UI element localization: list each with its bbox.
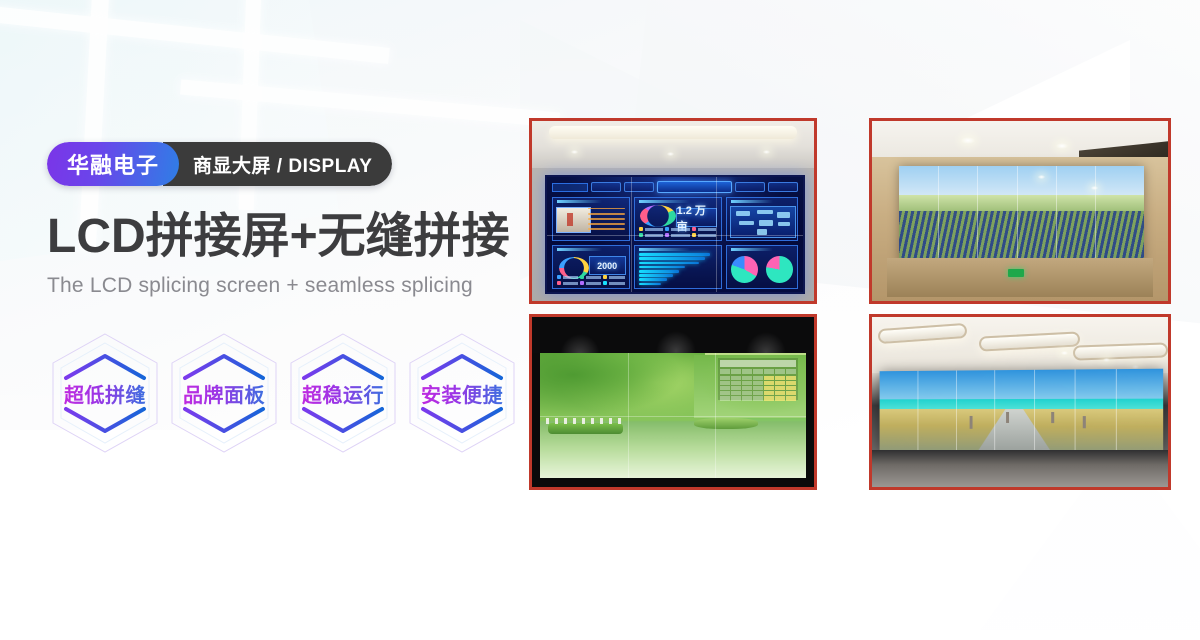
feature-item-3: 安装便捷 [403,330,521,456]
page-subtitle: The LCD splicing screen + seamless splic… [47,274,517,298]
calendar-overlay [718,358,798,401]
product-photo-grid: 1.2 万亩 [529,118,1171,490]
brand-badge-name: 华融电子 [47,142,179,186]
feature-label: 品牌面板 [183,379,265,408]
feature-label: 超稳运行 [302,379,384,408]
photo-beach-boardwalk-video-wall [869,314,1171,490]
feature-item-0: 超低拼缝 [46,330,164,456]
feature-list: 超低拼缝 品牌面板 [46,330,521,456]
feature-label: 安装便捷 [421,379,503,408]
photo-solar-farm-video-wall [869,118,1171,304]
feature-item-2: 超稳运行 [284,330,402,456]
photo-dashboard-video-wall: 1.2 万亩 [529,118,817,304]
page-title: LCD拼接屏+无缝拼接 [47,212,517,262]
feature-item-1: 品牌面板 [165,330,283,456]
dashboard-big-number: 2000 [589,256,626,276]
feature-label: 超低拼缝 [64,379,146,408]
promo-banner: 华融电子 商显大屏 / DISPLAY LCD拼接屏+无缝拼接 The LCD … [0,0,1200,640]
dashboard-big-number: 1.2 万亩 [676,208,718,228]
brand-badge: 华融电子 商显大屏 / DISPLAY [47,142,392,186]
photo-willow-lake-video-wall [529,314,817,490]
brand-badge-category: 商显大屏 / DISPLAY [163,142,392,186]
headline-block: 华融电子 商显大屏 / DISPLAY LCD拼接屏+无缝拼接 The LCD … [47,142,517,298]
